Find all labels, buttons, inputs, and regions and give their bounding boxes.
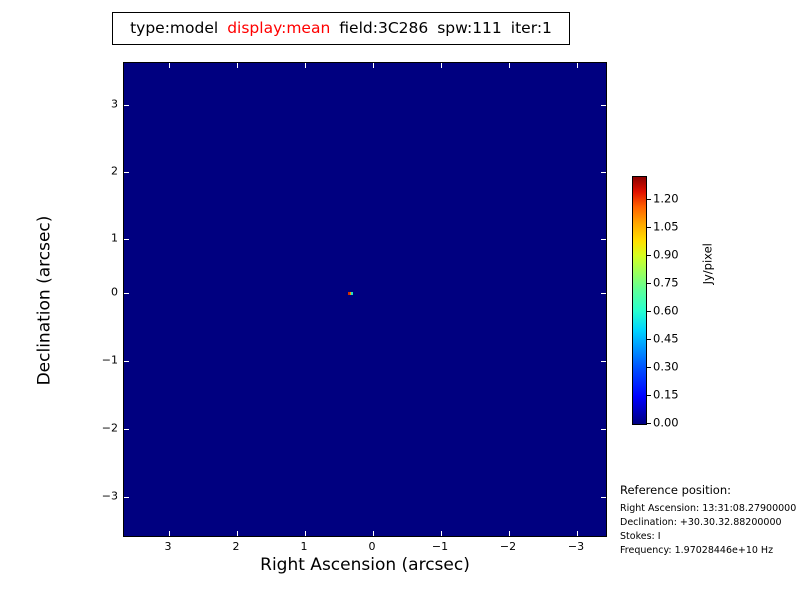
xtick-mark-top — [509, 63, 510, 68]
ytick-mark-right — [601, 497, 606, 498]
ytick-mark-right — [601, 172, 606, 173]
xtick-label: 3 — [165, 541, 172, 552]
xtick-label: 2 — [233, 541, 240, 552]
xtick-label: 0 — [369, 541, 376, 552]
colorbar-tick — [647, 367, 651, 368]
colorbar-tick-label: 0.30 — [653, 361, 679, 373]
ytick-mark — [124, 361, 129, 362]
title-segment-iter: iter:1 — [511, 21, 552, 37]
colorbar-tick — [647, 339, 651, 340]
colorbar-tick — [647, 395, 651, 396]
ytick-label: −3 — [102, 491, 118, 502]
plot-title-box: type:model display:mean field:3C286 spw:… — [112, 12, 570, 45]
ytick-mark — [124, 429, 129, 430]
xtick-mark-top — [169, 63, 170, 68]
title-segment-type: type:model — [130, 21, 218, 37]
colorbar-tick-label: 0.90 — [653, 249, 679, 261]
ytick-mark — [124, 172, 129, 173]
xtick-mark — [305, 531, 306, 536]
ytick-mark-right — [601, 293, 606, 294]
ytick-mark — [124, 239, 129, 240]
colorbar-tick — [647, 199, 651, 200]
xtick-mark-top — [441, 63, 442, 68]
xtick-mark — [441, 531, 442, 536]
colorbar-tick-label: 0.75 — [653, 277, 679, 289]
y-axis-title: Declination (arcsec) — [37, 101, 54, 501]
ytick-label: 1 — [111, 233, 118, 244]
colorbar-tick-label: 0.00 — [653, 417, 679, 429]
xtick-mark — [169, 531, 170, 536]
ytick-mark-right — [601, 361, 606, 362]
title-segment-display: display:mean — [227, 21, 330, 37]
ytick-label: −2 — [102, 423, 118, 434]
sky-image-panel[interactable] — [123, 62, 607, 537]
ytick-mark-right — [601, 429, 606, 430]
colorbar-tick-label: 1.20 — [653, 193, 679, 205]
xtick-label: −1 — [432, 541, 448, 552]
xtick-mark — [237, 531, 238, 536]
xtick-mark-top — [237, 63, 238, 68]
ytick-mark-right — [601, 239, 606, 240]
ytick-mark — [124, 293, 129, 294]
ytick-label: 2 — [111, 166, 118, 177]
xtick-mark — [509, 531, 510, 536]
point-source-pixel-cool — [351, 292, 353, 295]
x-axis-title: Right Ascension (arcsec) — [123, 557, 607, 574]
colorbar[interactable] — [632, 176, 647, 425]
colorbar-tick-label: 1.05 — [653, 221, 679, 233]
title-segment-field: field:3C286 — [339, 21, 428, 37]
xtick-label: −2 — [500, 541, 516, 552]
ytick-label: −1 — [102, 355, 118, 366]
xtick-mark-top — [305, 63, 306, 68]
colorbar-tick — [647, 283, 651, 284]
colorbar-tick — [647, 255, 651, 256]
point-source-marker — [348, 292, 353, 295]
reference-declination: Declination: +30.30.32.88200000 — [620, 516, 800, 530]
model-image-raster — [124, 63, 606, 536]
xtick-label: −3 — [568, 541, 584, 552]
reference-right-ascension: Right Ascension: 13:31:08.27900000 — [620, 502, 800, 516]
ytick-mark — [124, 497, 129, 498]
ytick-mark — [124, 105, 129, 106]
reference-stokes: Stokes: I — [620, 530, 800, 544]
ytick-label: 0 — [111, 287, 118, 298]
ytick-mark-right — [601, 105, 606, 106]
colorbar-tick — [647, 227, 651, 228]
colorbar-tick — [647, 423, 651, 424]
xtick-label: 1 — [301, 541, 308, 552]
xtick-mark — [373, 531, 374, 536]
reference-position-block: Reference position: Right Ascension: 13:… — [620, 483, 800, 559]
ytick-label: 3 — [111, 99, 118, 110]
colorbar-tick-label: 0.45 — [653, 333, 679, 345]
xtick-mark — [577, 531, 578, 536]
xtick-mark-top — [373, 63, 374, 68]
colorbar-tick — [647, 311, 651, 312]
reference-frequency: Frequency: 1.97028446e+10 Hz — [620, 544, 800, 558]
colorbar-gradient — [632, 176, 647, 425]
xtick-mark-top — [577, 63, 578, 68]
colorbar-tick-label: 0.60 — [653, 305, 679, 317]
colorbar-unit-label: Jy/pixel — [702, 204, 714, 324]
colorbar-tick-label: 0.15 — [653, 389, 679, 401]
reference-position-heading: Reference position: — [620, 483, 800, 499]
title-segment-spw: spw:111 — [437, 21, 502, 37]
